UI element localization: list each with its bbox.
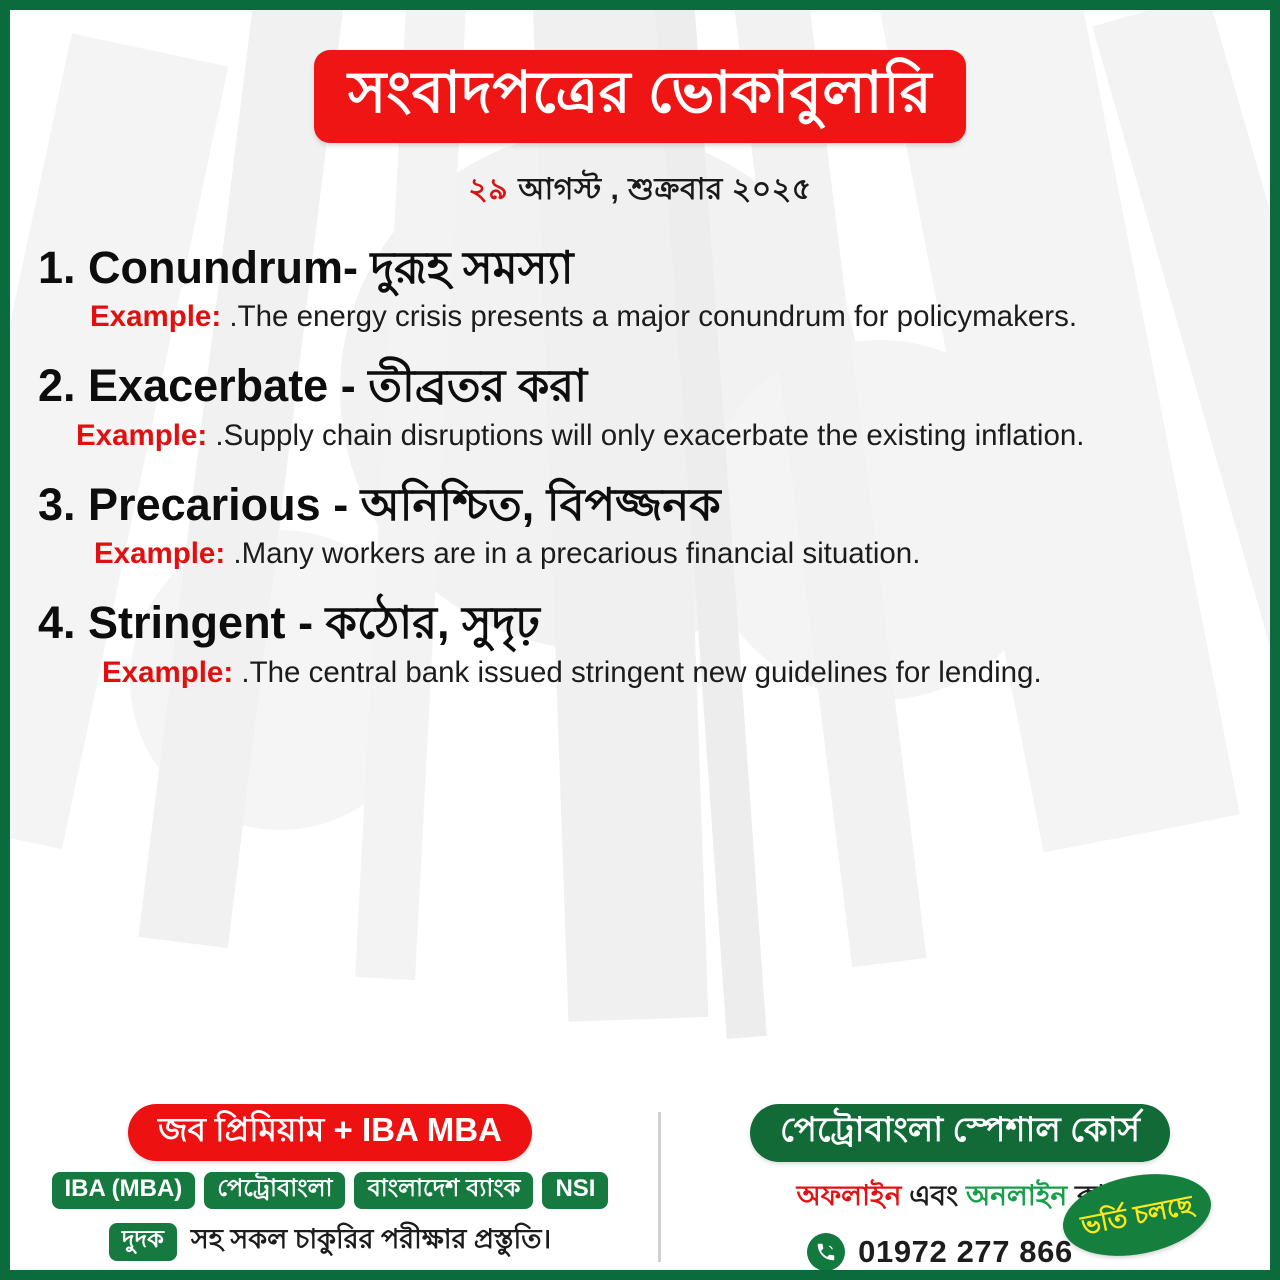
mode-and-label: এবং	[909, 1180, 958, 1211]
job-premium-course-badge[interactable]: জব প্রিমিয়াম + IBA MBA	[128, 1104, 532, 1161]
phone-number[interactable]: 01972 277 866	[858, 1234, 1073, 1270]
tag-dudok[interactable]: দুদক	[109, 1223, 177, 1261]
tag-nsi[interactable]: NSI	[542, 1172, 608, 1210]
phone-icon	[807, 1233, 845, 1271]
entry-heading: 2. Exacerbate - তীব্রতর করা	[38, 358, 1256, 414]
entry-bangla-meaning: - তীব্রতর করা	[341, 360, 587, 411]
example-label: Example:	[94, 537, 225, 570]
preparation-row: দুদক সহ সকল চাকুরির পরীক্ষার প্রস্তুতি।	[10, 1219, 650, 1264]
entry-number: 4.	[38, 597, 76, 648]
entry-word: Stringent	[88, 597, 286, 648]
list-item: 4. Stringent - কঠোর, সুদৃঢ় Example: .Th…	[24, 595, 1256, 692]
entry-example: Example: .Many workers are in a precario…	[94, 535, 1256, 573]
page-title: সংবাদপত্রের ভোকাবুলারি	[314, 50, 966, 143]
example-text: .Many workers are in a precarious financ…	[233, 537, 920, 570]
entry-bangla-meaning: দুরূহ সমস্যা	[371, 242, 574, 293]
entry-bangla-meaning: - কঠোর, সুদৃঢ়	[298, 597, 540, 648]
petrobangla-special-course-badge[interactable]: পেট্রোবাংলা স্পেশাল কোর্স	[750, 1104, 1170, 1162]
example-label: Example:	[102, 656, 233, 689]
entry-word: Exacerbate	[88, 360, 328, 411]
example-text: .The central bank issued stringent new g…	[241, 656, 1041, 689]
vocabulary-poster: সংবাদপত্রের ভোকাবুলারি ২৯আগস্ট , শুক্রবা…	[0, 0, 1280, 1280]
list-item: 1. Conundrum- দুরূহ সমস্যা Example: .The…	[24, 240, 1256, 337]
entry-heading: 3. Precarious - অনিশ্চিত, বিপজ্জনক	[38, 477, 1256, 533]
entry-bangla-meaning: - অনিশ্চিত, বিপজ্জনক	[333, 479, 721, 530]
admission-open-label: ভর্তি চলছে	[1079, 1190, 1196, 1240]
vocabulary-list: 1. Conundrum- দুরূহ সমস্যা Example: .The…	[10, 240, 1270, 692]
mode-online-label: অনলাইন	[966, 1180, 1067, 1211]
footer-left-panel: জব প্রিমিয়াম + IBA MBA IBA (MBA) পেট্রো…	[10, 1098, 650, 1270]
entry-word: Conundrum-	[88, 242, 358, 293]
entry-example: Example: .Supply chain disruptions will …	[76, 417, 1256, 455]
date-day: ২৯	[468, 173, 508, 206]
entry-word: Precarious	[88, 479, 321, 530]
entry-number: 2.	[38, 360, 76, 411]
exam-tag-row: IBA (MBA) পেট্রোবাংলা বাংলাদেশ ব্যাংক NS…	[10, 1172, 650, 1210]
title-section: সংবাদপত্রের ভোকাবুলারি	[10, 10, 1270, 143]
date-rest: আগস্ট , শুক্রবার ২০২৫	[518, 173, 812, 206]
entry-example: Example: .The central bank issued string…	[102, 654, 1256, 692]
example-text: .The energy crisis presents a major conu…	[229, 300, 1077, 333]
tag-petrobangla[interactable]: পেট্রোবাংলা	[204, 1172, 345, 1210]
entry-heading: 1. Conundrum- দুরূহ সমস্যা	[38, 240, 1256, 296]
tag-iba-mba[interactable]: IBA (MBA)	[52, 1172, 196, 1210]
mode-offline-label: অফলাইন	[796, 1180, 901, 1211]
example-text: .Supply chain disruptions will only exac…	[215, 419, 1084, 452]
list-item: 3. Precarious - অনিশ্চিত, বিপজ্জনক Examp…	[24, 477, 1256, 574]
entry-example: Example: .The energy crisis presents a m…	[90, 298, 1256, 336]
example-label: Example:	[90, 300, 221, 333]
entry-number: 1.	[38, 242, 76, 293]
tag-bangladesh-bank[interactable]: বাংলাদেশ ব্যাংক	[354, 1172, 533, 1210]
entry-number: 3.	[38, 479, 76, 530]
list-item: 2. Exacerbate - তীব্রতর করা Example: .Su…	[24, 358, 1256, 455]
example-label: Example:	[76, 419, 207, 452]
date-line: ২৯আগস্ট , শুক্রবার ২০২৫	[10, 165, 1270, 216]
footer-divider	[658, 1112, 661, 1262]
preparation-text: সহ সকল চাকুরির পরীক্ষার প্রস্তুতি।	[191, 1219, 551, 1264]
entry-heading: 4. Stringent - কঠোর, সুদৃঢ়	[38, 595, 1256, 651]
footer-right-panel: পেট্রোবাংলা স্পেশাল কোর্স অফলাইন এবং অনল…	[650, 1098, 1270, 1270]
footer: জব প্রিমিয়াম + IBA MBA IBA (MBA) পেট্রো…	[10, 1098, 1270, 1270]
